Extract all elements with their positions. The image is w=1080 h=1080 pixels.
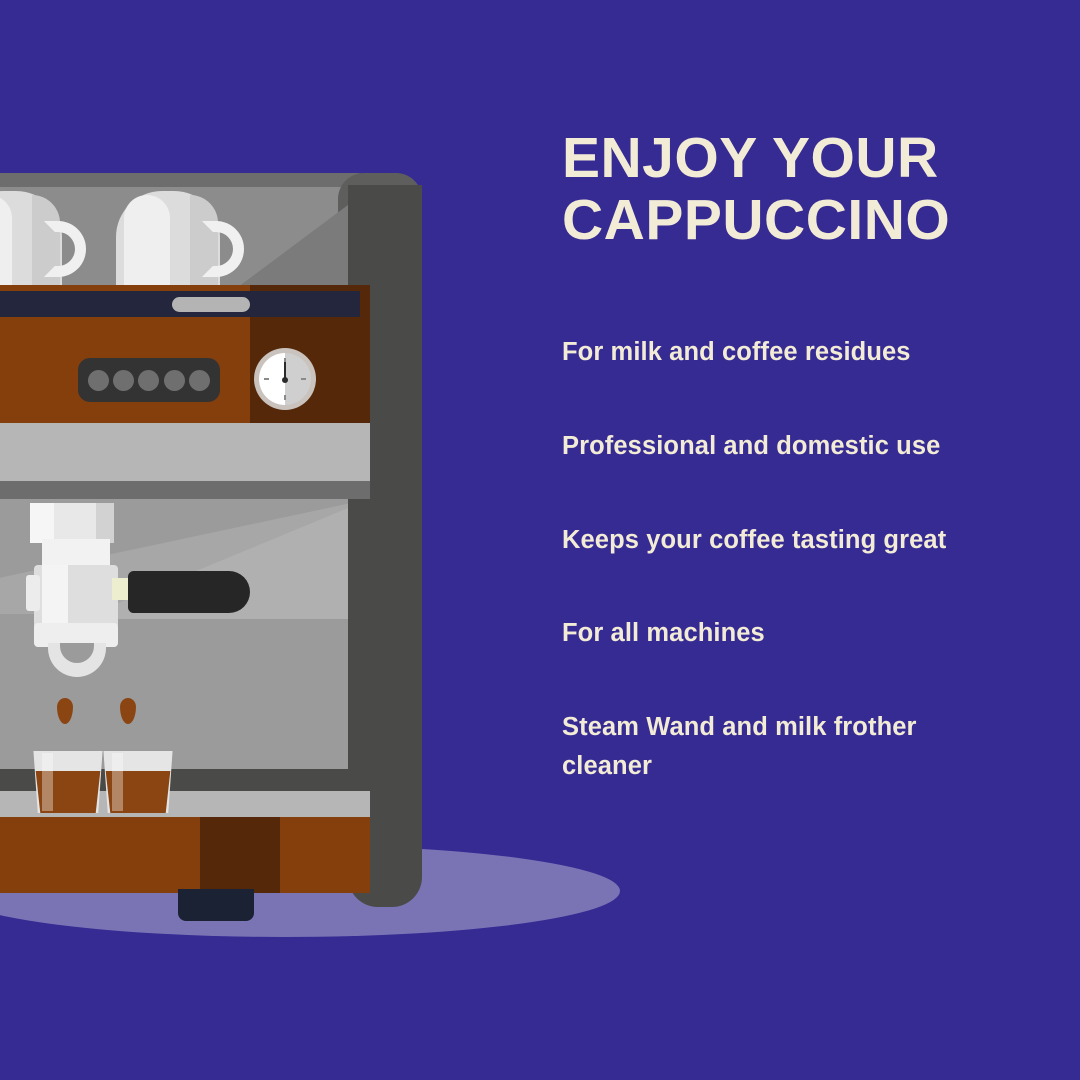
gauge-tick-bottom [284,395,286,400]
list-item: Keeps your coffee tasting great [562,521,962,560]
machine-base-panel [0,817,370,893]
espresso-machine-illustration [0,173,450,903]
list-item: Professional and domestic use [562,427,962,466]
list-item: For all machines [562,614,962,653]
list-item: Steam Wand and milk frother cleaner [562,708,962,786]
poster-canvas: ENJOY YOUR CAPPUCCINO For milk and coffe… [0,0,1080,1080]
glass-highlight [42,753,53,811]
gauge-tick-right [301,378,306,380]
text-column: ENJOY YOUR CAPPUCCINO For milk and coffe… [562,128,982,251]
cup-highlight [0,195,12,291]
feature-list: For milk and coffee residues Professiona… [562,333,962,786]
machine-foot [178,889,254,921]
cup-highlight [124,195,170,291]
control-button-bar[interactable] [78,358,220,402]
headline-line-1: ENJOY YOUR [562,126,939,190]
warming-cup [116,191,238,293]
portafilter-handle[interactable] [128,571,250,613]
portafilter-left-arm [26,575,40,611]
portafilter-body-highlight [42,565,68,629]
control-button-5[interactable] [189,370,210,391]
glass-highlight [112,753,123,811]
espresso-glass [32,751,104,813]
control-button-3[interactable] [138,370,159,391]
machine-shelf-edge [0,481,370,499]
cup-handle [44,221,86,277]
control-button-4[interactable] [164,370,185,391]
headline-line-2: CAPPUCCINO [562,188,950,252]
group-head-top-shade [96,503,114,543]
control-button-2[interactable] [113,370,134,391]
gauge-tick-left [264,378,269,380]
cup-handle [202,221,244,277]
page-title: ENJOY YOUR CAPPUCCINO [562,128,982,251]
control-button-1[interactable] [88,370,109,391]
list-item: For milk and coffee residues [562,333,962,372]
group-head-top-highlight [30,503,54,543]
machine-shelf-light [0,423,370,481]
gauge-hub [282,377,288,383]
machine-base-panel-shade [200,817,280,893]
pressure-gauge-icon [254,348,316,410]
warming-cup [0,191,80,293]
espresso-glass [102,751,174,813]
display-indicator [172,297,250,312]
